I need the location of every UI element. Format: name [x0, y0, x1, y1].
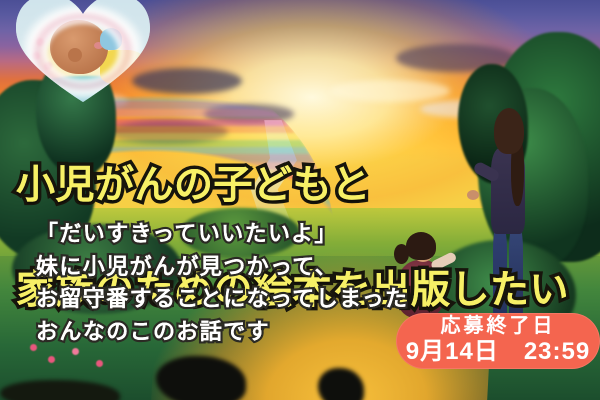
subtitle: 「だいすきっていいたいよ」 妹に小児がんが見つかって、 お留守番することになって… [36, 218, 436, 348]
subtitle-line-3-fill: お留守番することになってしまった [36, 283, 436, 316]
cloud-icon [330, 80, 450, 102]
deadline-value: 9月14日 23:59 [406, 338, 590, 366]
headline-line-1-fill: 小児がんの子どもと [16, 160, 584, 212]
subtitle-line-2-fill: 妹に小児がんが見つかって、 [36, 251, 436, 284]
campaign-banner: 小児がんの子どもと 家族のための絵本を出版したい 小児がんの子どもと 家族のため… [0, 0, 600, 400]
subtitle-line-1-fill: 「だいすきっていいたいよ」 [36, 218, 436, 251]
subtitle-line-4-fill: おんなのこのお話です [36, 316, 436, 349]
deadline-label: 応募終了日 [441, 316, 556, 337]
deadline-badge: 応募終了日 9月14日 23:59 [396, 313, 600, 369]
